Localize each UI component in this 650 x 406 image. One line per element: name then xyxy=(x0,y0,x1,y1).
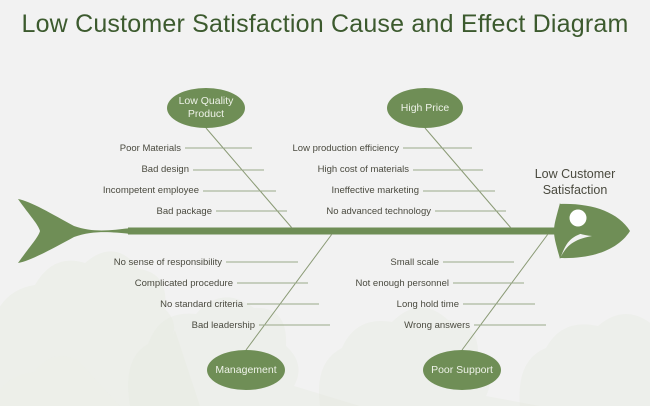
cause-label[interactable]: Incompetent employee xyxy=(79,185,199,196)
cause-label[interactable]: Ineffective marketing xyxy=(299,185,419,196)
cause-label[interactable]: Wrong answers xyxy=(350,320,470,331)
category-label-high-price[interactable]: High Price xyxy=(365,102,485,115)
cause-label[interactable]: No advanced technology xyxy=(311,206,431,217)
cause-label[interactable]: Bad leadership xyxy=(135,320,255,331)
background-foliage xyxy=(0,251,650,406)
cause-label[interactable]: No standard criteria xyxy=(123,299,243,310)
category-label-management[interactable]: Management xyxy=(186,364,306,377)
cause-label[interactable]: Long hold time xyxy=(339,299,459,310)
page-title: Low Customer Satisfaction Cause and Effe… xyxy=(0,10,650,39)
category-bone-high-price xyxy=(425,128,511,228)
cause-label[interactable]: Poor Materials xyxy=(60,143,181,154)
cause-label[interactable]: Bad design xyxy=(69,164,189,175)
diagram-canvas: Low Customer Satisfaction Cause and Effe… xyxy=(0,0,650,406)
fishbone-spine xyxy=(128,228,560,235)
cause-label[interactable]: Low production efficiency xyxy=(279,143,399,154)
fishbone-artwork xyxy=(0,0,650,406)
effect-label: Low Customer Satisfaction xyxy=(505,166,645,198)
cause-label[interactable]: High cost of materials xyxy=(289,164,409,175)
category-bone-management xyxy=(246,234,332,350)
cause-label[interactable]: Small scale xyxy=(319,257,439,268)
cause-label[interactable]: Not enough personnel xyxy=(329,278,449,289)
category-bone-poor-support xyxy=(462,234,548,350)
cause-label[interactable]: Bad package xyxy=(92,206,212,217)
category-label-low-quality-product[interactable]: Low Quality Product xyxy=(146,95,266,121)
category-label-poor-support[interactable]: Poor Support xyxy=(402,364,522,377)
fish-head-icon xyxy=(554,203,630,259)
cause-label[interactable]: No sense of responsibility xyxy=(102,257,222,268)
cause-label[interactable]: Complicated procedure xyxy=(113,278,233,289)
fish-eye xyxy=(570,210,587,227)
